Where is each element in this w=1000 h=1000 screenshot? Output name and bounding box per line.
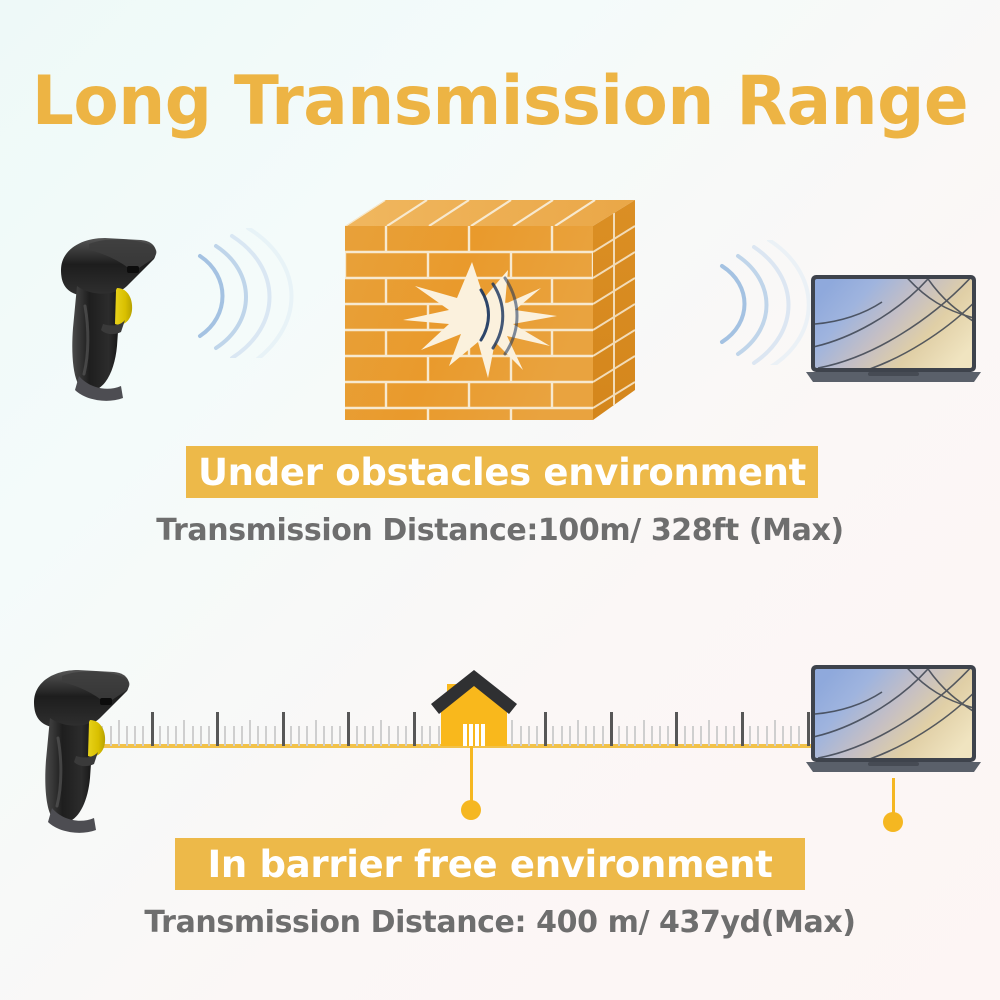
status-badge-obstacles: Under obstacles environment xyxy=(186,446,818,498)
barcode-scanner-icon xyxy=(28,660,153,835)
ruler-tick-major xyxy=(282,712,285,746)
map-pin-stem xyxy=(470,746,473,808)
ruler-tick-major xyxy=(544,712,547,746)
ruler-tick-minor xyxy=(175,726,177,746)
brick-wall-icon xyxy=(345,200,635,420)
ruler-tick-major xyxy=(610,712,613,746)
ruler-tick-minor xyxy=(757,726,759,746)
ruler-tick-minor xyxy=(274,726,276,746)
signal-waves-icon xyxy=(706,240,821,365)
ruler-tick-major xyxy=(741,712,744,746)
distance-text-obstacles: Transmission Distance:100m/ 328ft (Max) xyxy=(0,513,1000,548)
ruler-tick-minor xyxy=(249,720,251,746)
status-badge-barrier-free: In barrier free environment xyxy=(175,838,805,890)
ruler-tick-minor xyxy=(766,726,768,746)
ruler-tick-minor xyxy=(224,726,226,746)
ruler-tick-minor xyxy=(798,726,800,746)
ruler-tick-minor xyxy=(192,726,194,746)
ruler-tick-minor xyxy=(667,726,669,746)
laptop-icon xyxy=(806,272,981,388)
page-title: Long Transmission Range xyxy=(15,62,985,141)
ruler-tick-minor xyxy=(716,726,718,746)
ruler-tick-minor xyxy=(626,726,628,746)
ruler-tick-minor xyxy=(380,720,382,746)
product-infographic: Long Transmission Range xyxy=(0,0,1000,1000)
ruler-tick-minor xyxy=(323,726,325,746)
ruler-tick-minor xyxy=(708,720,710,746)
ruler-tick-major xyxy=(216,712,219,746)
ruler-tick-minor xyxy=(659,726,661,746)
ruler-tick-minor xyxy=(200,726,202,746)
ruler-tick-minor xyxy=(405,726,407,746)
ruler-tick-minor xyxy=(749,726,751,746)
ruler-tick-minor xyxy=(372,726,374,746)
ruler-tick-minor xyxy=(725,726,727,746)
ruler-tick-minor xyxy=(331,726,333,746)
distance-text-barrier-free: Transmission Distance: 400 m/ 437yd(Max) xyxy=(0,905,1000,940)
ruler-tick-minor xyxy=(233,726,235,746)
ruler-tick-minor xyxy=(577,720,579,746)
ruler-tick-minor xyxy=(602,726,604,746)
ruler-tick-minor xyxy=(388,726,390,746)
ruler-tick-minor xyxy=(774,720,776,746)
ruler-tick-minor xyxy=(528,726,530,746)
ruler-tick-minor xyxy=(790,726,792,746)
ruler-tick-minor xyxy=(782,726,784,746)
ruler-tick-minor xyxy=(167,726,169,746)
ruler-tick-minor xyxy=(421,726,423,746)
ruler-tick-minor xyxy=(183,720,185,746)
ruler-tick-minor xyxy=(159,726,161,746)
ruler-tick-minor xyxy=(651,726,653,746)
ruler-tick-minor xyxy=(700,726,702,746)
ruler-tick-major xyxy=(675,712,678,746)
ruler-tick-minor xyxy=(315,720,317,746)
map-pin-dot xyxy=(883,812,903,832)
ruler-tick-minor xyxy=(733,726,735,746)
ruler-tick-minor xyxy=(257,726,259,746)
ruler-tick-major xyxy=(347,712,350,746)
ruler-tick-minor xyxy=(585,726,587,746)
house-icon xyxy=(425,668,523,748)
ruler-tick-minor xyxy=(265,726,267,746)
ruler-tick-minor xyxy=(692,726,694,746)
ruler-tick-minor xyxy=(634,726,636,746)
barcode-scanner-icon xyxy=(55,228,180,403)
ruler-tick-minor xyxy=(684,726,686,746)
ruler-tick-minor xyxy=(364,726,366,746)
ruler-tick-minor xyxy=(569,726,571,746)
ruler-tick-minor xyxy=(536,726,538,746)
ruler-tick-minor xyxy=(290,726,292,746)
ruler-tick-minor xyxy=(593,726,595,746)
map-pin-dot xyxy=(461,800,481,820)
ruler-tick-minor xyxy=(298,726,300,746)
ruler-tick-minor xyxy=(339,726,341,746)
ruler-tick-minor xyxy=(306,726,308,746)
ruler-tick-minor xyxy=(397,726,399,746)
laptop-icon xyxy=(806,662,981,778)
signal-waves-icon xyxy=(182,228,302,358)
ruler-tick-minor xyxy=(618,726,620,746)
ruler-tick-major xyxy=(413,712,416,746)
ruler-tick-minor xyxy=(241,726,243,746)
ruler-tick-minor xyxy=(561,726,563,746)
ruler-tick-minor xyxy=(208,726,210,746)
ruler-tick-minor xyxy=(643,720,645,746)
ruler-tick-minor xyxy=(356,726,358,746)
ruler-tick-minor xyxy=(552,726,554,746)
